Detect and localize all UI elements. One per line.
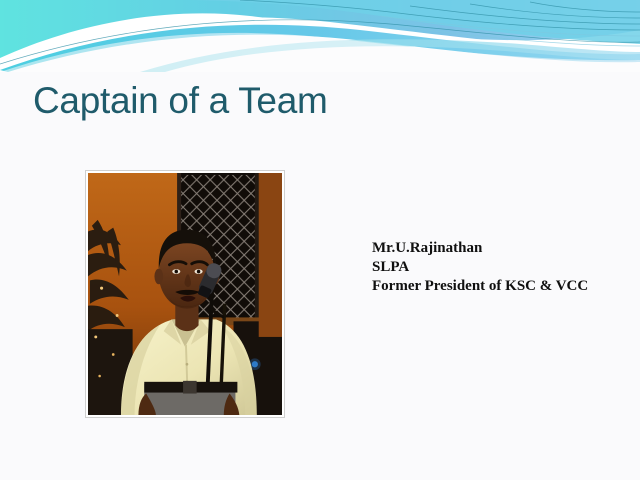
page-title: Captain of a Team [33, 80, 328, 122]
photo-graphic [88, 173, 282, 415]
presentation-slide: Captain of a Team [0, 0, 640, 480]
speaker-photo-frame [85, 170, 285, 418]
decorative-wave-band [0, 0, 640, 72]
wave-graphic [0, 0, 640, 72]
speaker-photograph [88, 173, 282, 415]
caption-role: Former President of KSC & VCC [372, 277, 588, 296]
caption-organisation: SLPA [372, 258, 588, 277]
speaker-caption: Mr.U.Rajinathan SLPA Former President of… [372, 239, 588, 296]
caption-name: Mr.U.Rajinathan [372, 239, 588, 258]
